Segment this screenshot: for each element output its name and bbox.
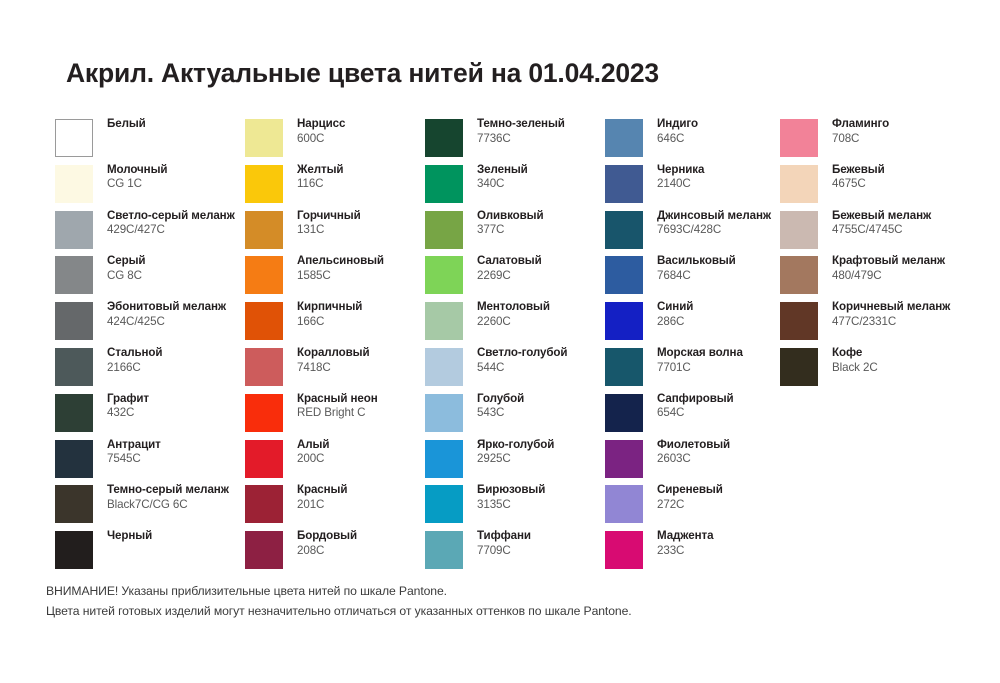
swatch-name: Бордовый xyxy=(297,529,425,544)
swatch-name: Тиффани xyxy=(477,529,605,544)
swatch-row: Апельсиновый1585C xyxy=(245,256,425,302)
swatch-pantone-code: 600C xyxy=(297,132,425,147)
color-swatch xyxy=(245,394,283,432)
swatch-row: МолочныйCG 1C xyxy=(55,165,245,211)
swatch-row: Васильковый7684C xyxy=(605,256,780,302)
swatch-pantone-code: RED Bright C xyxy=(297,406,425,421)
color-swatch xyxy=(425,256,463,294)
swatch-labels: Зеленый340C xyxy=(477,163,605,192)
swatch-pantone-code: 208C xyxy=(297,544,425,559)
color-swatch xyxy=(780,119,818,157)
swatch-row: Морская волна7701C xyxy=(605,348,780,394)
color-swatch xyxy=(605,165,643,203)
swatch-row: Индиго646C xyxy=(605,119,780,165)
swatch-labels: Алый200C xyxy=(297,438,425,467)
color-swatch xyxy=(605,256,643,294)
swatch-name: Фиолетовый xyxy=(657,438,780,453)
swatch-labels: Индиго646C xyxy=(657,117,780,146)
swatch-pantone-code: CG 1C xyxy=(107,177,245,192)
swatch-row: Бежевый меланж4755C/4745C xyxy=(780,211,995,257)
color-swatch xyxy=(425,531,463,569)
swatch-pantone-code: 7736C xyxy=(477,132,605,147)
swatch-labels: Светло-голубой544C xyxy=(477,346,605,375)
swatch-pantone-code: 272C xyxy=(657,498,780,513)
swatch-name: Бирюзовый xyxy=(477,483,605,498)
swatch-labels: Белый xyxy=(107,117,245,132)
swatch-row: Белый xyxy=(55,119,245,165)
swatch-pantone-code: 166C xyxy=(297,315,425,330)
color-swatch xyxy=(245,165,283,203)
swatch-labels: Маджента233C xyxy=(657,529,780,558)
color-swatch xyxy=(55,440,93,478)
swatch-labels: Красный неонRED Bright C xyxy=(297,392,425,421)
swatch-labels: Апельсиновый1585C xyxy=(297,254,425,283)
swatch-labels: Салатовый2269C xyxy=(477,254,605,283)
color-swatch xyxy=(55,485,93,523)
swatch-pantone-code: 2140C xyxy=(657,177,780,192)
swatch-row: Черника2140C xyxy=(605,165,780,211)
swatch-row: Зеленый340C xyxy=(425,165,605,211)
swatch-name: Сиреневый xyxy=(657,483,780,498)
swatch-name: Апельсиновый xyxy=(297,254,425,269)
swatch-labels: Тиффани7709C xyxy=(477,529,605,558)
swatch-row: Алый200C xyxy=(245,440,425,486)
swatch-name: Темно-серый меланж xyxy=(107,483,245,498)
swatch-row: Желтый116C xyxy=(245,165,425,211)
swatch-name: Фламинго xyxy=(832,117,995,132)
swatch-row: Фиолетовый2603C xyxy=(605,440,780,486)
swatch-row: Нарцисс600C xyxy=(245,119,425,165)
swatch-labels: Антрацит7545C xyxy=(107,438,245,467)
swatch-name: Алый xyxy=(297,438,425,453)
swatch-name: Горчичный xyxy=(297,209,425,224)
swatch-pantone-code: 424C/425C xyxy=(107,315,245,330)
swatch-pantone-code: CG 8C xyxy=(107,269,245,284)
swatch-labels: МолочныйCG 1C xyxy=(107,163,245,192)
swatch-row: Ярко-голубой2925C xyxy=(425,440,605,486)
swatch-labels: Бежевый4675C xyxy=(832,163,995,192)
swatch-pantone-code: 2269C xyxy=(477,269,605,284)
swatch-name: Индиго xyxy=(657,117,780,132)
swatch-row: Голубой543C xyxy=(425,394,605,440)
swatch-row: СерыйCG 8C xyxy=(55,256,245,302)
footer-notes: ВНИМАНИЕ! Указаны приблизительные цвета … xyxy=(46,582,946,621)
swatch-row: Крафтовый меланж480/479C xyxy=(780,256,995,302)
color-swatch xyxy=(780,302,818,340)
swatch-row: Темно-зеленый7736C xyxy=(425,119,605,165)
color-swatch xyxy=(425,119,463,157)
swatch-labels: Фламинго708C xyxy=(832,117,995,146)
swatch-pantone-code: 477C/2331C xyxy=(832,315,995,330)
swatch-name: Черный xyxy=(107,529,245,544)
swatch-pantone-code: 200C xyxy=(297,452,425,467)
swatch-pantone-code: 7418C xyxy=(297,361,425,376)
swatch-name: Голубой xyxy=(477,392,605,407)
swatch-pantone-code: 708C xyxy=(832,132,995,147)
swatch-labels: Коричневый меланж477C/2331C xyxy=(832,300,995,329)
swatch-labels: Крафтовый меланж480/479C xyxy=(832,254,995,283)
swatch-name: Маджента xyxy=(657,529,780,544)
color-swatch xyxy=(425,440,463,478)
swatch-row: Бежевый4675C xyxy=(780,165,995,211)
swatch-pantone-code: 4675C xyxy=(832,177,995,192)
swatch-row: Салатовый2269C xyxy=(425,256,605,302)
swatch-name: Стальной xyxy=(107,346,245,361)
swatch-labels: Кирпичный166C xyxy=(297,300,425,329)
swatch-labels: Сиреневый272C xyxy=(657,483,780,512)
swatch-row: Сапфировый654C xyxy=(605,394,780,440)
swatch-pantone-code: 7693C/428C xyxy=(657,223,780,238)
swatch-name: Коралловый xyxy=(297,346,425,361)
swatch-column-4: Индиго646CЧерника2140CДжинсовый меланж76… xyxy=(605,119,780,577)
swatch-row: Антрацит7545C xyxy=(55,440,245,486)
swatch-row: Графит432C xyxy=(55,394,245,440)
swatch-labels: Горчичный131C xyxy=(297,209,425,238)
swatch-name: Светло-серый меланж xyxy=(107,209,245,224)
color-swatch xyxy=(245,119,283,157)
swatch-pantone-code: 544C xyxy=(477,361,605,376)
swatch-name: Темно-зеленый xyxy=(477,117,605,132)
swatch-pantone-code: 1585C xyxy=(297,269,425,284)
swatch-pantone-code: 480/479C xyxy=(832,269,995,284)
swatch-pantone-code: 2603C xyxy=(657,452,780,467)
swatch-labels: Васильковый7684C xyxy=(657,254,780,283)
swatch-row: Фламинго708C xyxy=(780,119,995,165)
swatch-labels: Джинсовый меланж7693C/428C xyxy=(657,209,780,238)
color-swatch xyxy=(425,485,463,523)
swatch-labels: Темно-серый меланжBlack7C/CG 6C xyxy=(107,483,245,512)
swatch-pantone-code: 2925C xyxy=(477,452,605,467)
swatch-name: Сапфировый xyxy=(657,392,780,407)
swatch-labels: Фиолетовый2603C xyxy=(657,438,780,467)
swatch-pantone-code: 432C xyxy=(107,406,245,421)
swatch-row: Ментоловый2260C xyxy=(425,302,605,348)
color-swatch xyxy=(780,348,818,386)
swatch-pantone-code: Black 2C xyxy=(832,361,995,376)
swatch-name: Серый xyxy=(107,254,245,269)
swatch-row: Красный неонRED Bright C xyxy=(245,394,425,440)
swatch-pantone-code: 4755C/4745C xyxy=(832,223,995,238)
swatch-name: Эбонитовый меланж xyxy=(107,300,245,315)
swatch-name: Коричневый меланж xyxy=(832,300,995,315)
color-swatch xyxy=(55,531,93,569)
swatch-name: Желтый xyxy=(297,163,425,178)
color-swatch xyxy=(245,256,283,294)
swatch-pantone-code: 429C/427C xyxy=(107,223,245,238)
color-swatch xyxy=(425,165,463,203)
color-swatch xyxy=(780,211,818,249)
color-swatch xyxy=(245,302,283,340)
swatch-row: Бирюзовый3135C xyxy=(425,485,605,531)
swatch-labels: Коралловый7418C xyxy=(297,346,425,375)
color-swatch xyxy=(245,485,283,523)
swatch-name: Васильковый xyxy=(657,254,780,269)
swatch-row: Кирпичный166C xyxy=(245,302,425,348)
color-swatch xyxy=(780,256,818,294)
swatch-labels: Ярко-голубой2925C xyxy=(477,438,605,467)
swatch-name: Оливковый xyxy=(477,209,605,224)
swatch-name: Черника xyxy=(657,163,780,178)
swatch-name: Синий xyxy=(657,300,780,315)
swatch-labels: Бежевый меланж4755C/4745C xyxy=(832,209,995,238)
swatch-name: Графит xyxy=(107,392,245,407)
color-swatch xyxy=(425,394,463,432)
swatch-row: Сиреневый272C xyxy=(605,485,780,531)
swatch-row: Маджента233C xyxy=(605,531,780,577)
swatch-labels: Темно-зеленый7736C xyxy=(477,117,605,146)
swatch-row: Красный201C xyxy=(245,485,425,531)
swatch-name: Зеленый xyxy=(477,163,605,178)
swatch-name: Бежевый xyxy=(832,163,995,178)
swatch-row: КофеBlack 2C xyxy=(780,348,995,394)
swatch-name: Молочный xyxy=(107,163,245,178)
swatch-column-1: БелыйМолочныйCG 1CСветло-серый меланж429… xyxy=(55,119,245,577)
swatch-labels: Желтый116C xyxy=(297,163,425,192)
swatch-pantone-code: 543C xyxy=(477,406,605,421)
color-swatch xyxy=(55,348,93,386)
swatch-name: Бежевый меланж xyxy=(832,209,995,224)
swatch-name: Ярко-голубой xyxy=(477,438,605,453)
color-swatch xyxy=(55,165,93,203)
swatch-labels: Ментоловый2260C xyxy=(477,300,605,329)
page-title: Акрил. Актуальные цвета нитей на 01.04.2… xyxy=(66,58,659,89)
color-swatch xyxy=(425,302,463,340)
swatch-row: Черный xyxy=(55,531,245,577)
swatch-pantone-code: 377C xyxy=(477,223,605,238)
swatch-pantone-code: 286C xyxy=(657,315,780,330)
swatch-row: Светло-голубой544C xyxy=(425,348,605,394)
swatch-name: Светло-голубой xyxy=(477,346,605,361)
swatch-row: Эбонитовый меланж424C/425C xyxy=(55,302,245,348)
swatch-pantone-code: Black7C/CG 6C xyxy=(107,498,245,513)
color-swatch xyxy=(605,394,643,432)
swatch-pantone-code: 131C xyxy=(297,223,425,238)
color-swatch xyxy=(55,211,93,249)
swatch-pantone-code: 3135C xyxy=(477,498,605,513)
swatch-labels: Синий286C xyxy=(657,300,780,329)
swatch-name: Ментоловый xyxy=(477,300,605,315)
swatch-pantone-code: 7709C xyxy=(477,544,605,559)
color-swatch xyxy=(780,165,818,203)
swatch-pantone-code: 2166C xyxy=(107,361,245,376)
swatch-labels: Эбонитовый меланж424C/425C xyxy=(107,300,245,329)
swatch-pantone-code: 233C xyxy=(657,544,780,559)
color-swatch xyxy=(55,394,93,432)
swatch-pantone-code: 646C xyxy=(657,132,780,147)
swatch-name: Салатовый xyxy=(477,254,605,269)
swatch-labels: Графит432C xyxy=(107,392,245,421)
swatch-column-3: Темно-зеленый7736CЗеленый340CОливковый37… xyxy=(425,119,605,577)
color-swatch xyxy=(245,348,283,386)
swatch-labels: Голубой543C xyxy=(477,392,605,421)
swatch-pantone-code: 654C xyxy=(657,406,780,421)
footer-disclaimer-line: Цвета нитей готовых изделий могут незнач… xyxy=(46,602,946,622)
color-swatch xyxy=(605,348,643,386)
swatch-labels: Нарцисс600C xyxy=(297,117,425,146)
footer-warning-line: ВНИМАНИЕ! Указаны приблизительные цвета … xyxy=(46,582,946,602)
swatch-row: Светло-серый меланж429C/427C xyxy=(55,211,245,257)
color-swatch xyxy=(605,119,643,157)
swatch-pantone-code: 7684C xyxy=(657,269,780,284)
swatch-labels: Морская волна7701C xyxy=(657,346,780,375)
color-swatch xyxy=(605,211,643,249)
swatch-labels: Сапфировый654C xyxy=(657,392,780,421)
color-swatch xyxy=(605,302,643,340)
swatch-pantone-code: 7701C xyxy=(657,361,780,376)
swatch-pantone-code: 201C xyxy=(297,498,425,513)
color-swatch xyxy=(605,485,643,523)
swatch-column-5: Фламинго708CБежевый4675CБежевый меланж47… xyxy=(780,119,995,394)
swatch-row: Горчичный131C xyxy=(245,211,425,257)
swatch-pantone-code: 2260C xyxy=(477,315,605,330)
swatch-labels: Оливковый377C xyxy=(477,209,605,238)
color-swatch xyxy=(605,440,643,478)
swatch-row: Коралловый7418C xyxy=(245,348,425,394)
swatch-name: Крафтовый меланж xyxy=(832,254,995,269)
color-swatch xyxy=(55,302,93,340)
swatch-name: Красный xyxy=(297,483,425,498)
swatch-row: Коричневый меланж477C/2331C xyxy=(780,302,995,348)
color-swatch xyxy=(425,211,463,249)
swatch-labels: Красный201C xyxy=(297,483,425,512)
swatch-row: Синий286C xyxy=(605,302,780,348)
color-swatch xyxy=(425,348,463,386)
swatch-name: Антрацит xyxy=(107,438,245,453)
color-swatch xyxy=(245,531,283,569)
swatch-name: Кофе xyxy=(832,346,995,361)
swatch-labels: Стальной2166C xyxy=(107,346,245,375)
swatch-name: Красный неон xyxy=(297,392,425,407)
swatch-name: Нарцисс xyxy=(297,117,425,132)
swatch-name: Джинсовый меланж xyxy=(657,209,780,224)
swatch-pantone-code: 116C xyxy=(297,177,425,192)
swatch-name: Кирпичный xyxy=(297,300,425,315)
swatch-labels: СерыйCG 8C xyxy=(107,254,245,283)
swatch-labels: Бордовый208C xyxy=(297,529,425,558)
swatch-pantone-code: 340C xyxy=(477,177,605,192)
swatch-labels: КофеBlack 2C xyxy=(832,346,995,375)
swatch-row: Стальной2166C xyxy=(55,348,245,394)
swatch-column-2: Нарцисс600CЖелтый116CГорчичный131CАпельс… xyxy=(245,119,425,577)
swatch-labels: Черный xyxy=(107,529,245,544)
swatch-labels: Светло-серый меланж429C/427C xyxy=(107,209,245,238)
color-swatch xyxy=(55,256,93,294)
color-swatch xyxy=(245,440,283,478)
color-swatch xyxy=(55,119,93,157)
color-swatch xyxy=(605,531,643,569)
swatch-row: Бордовый208C xyxy=(245,531,425,577)
swatch-pantone-code: 7545C xyxy=(107,452,245,467)
swatch-labels: Черника2140C xyxy=(657,163,780,192)
swatch-row: Джинсовый меланж7693C/428C xyxy=(605,211,780,257)
swatch-labels: Бирюзовый3135C xyxy=(477,483,605,512)
swatch-row: Тиффани7709C xyxy=(425,531,605,577)
swatch-row: Оливковый377C xyxy=(425,211,605,257)
swatch-name: Морская волна xyxy=(657,346,780,361)
color-chart-page: Акрил. Актуальные цвета нитей на 01.04.2… xyxy=(0,0,1000,683)
swatch-row: Темно-серый меланжBlack7C/CG 6C xyxy=(55,485,245,531)
swatch-name: Белый xyxy=(107,117,245,132)
color-swatch xyxy=(245,211,283,249)
